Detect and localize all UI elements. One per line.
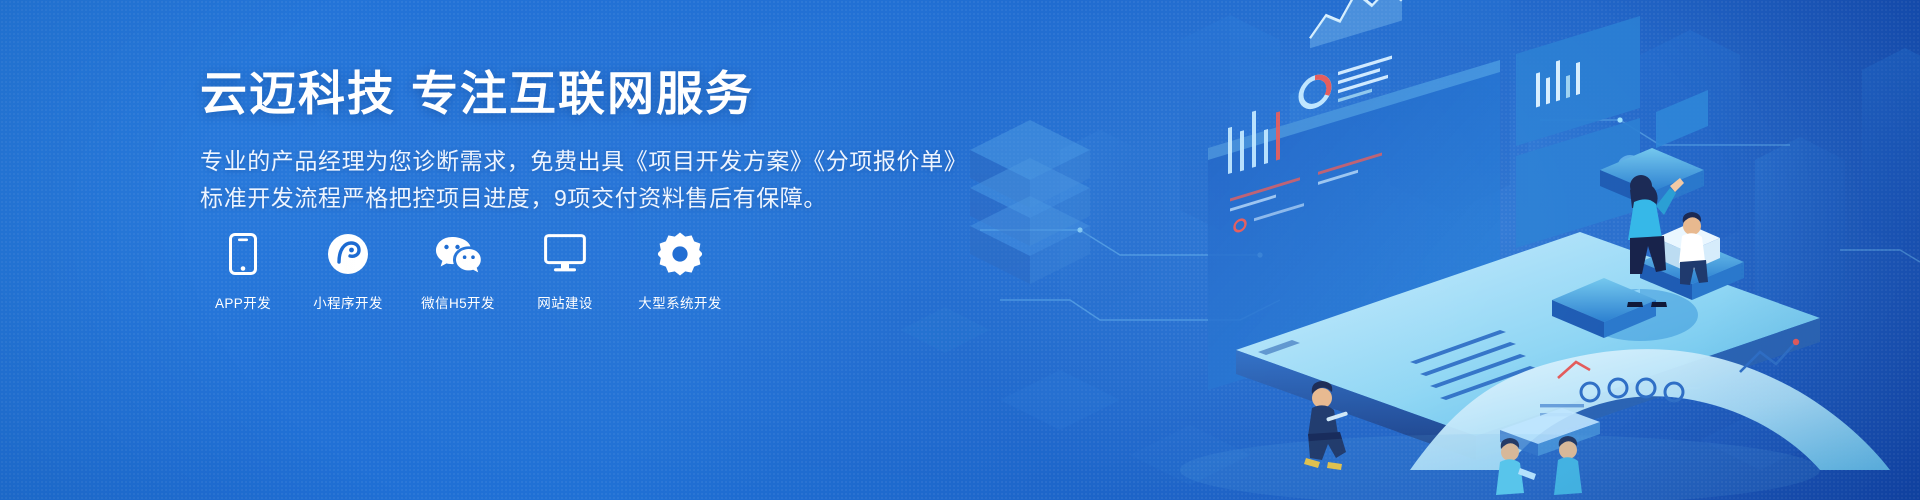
isometric-tech-illustration bbox=[940, 0, 1920, 500]
service-label: 微信H5开发 bbox=[421, 292, 495, 312]
service-item-large-system[interactable]: 大型系统开发 bbox=[624, 232, 736, 312]
service-label: 小程序开发 bbox=[313, 292, 383, 312]
service-label: APP开发 bbox=[215, 292, 271, 312]
service-label: 网站建设 bbox=[537, 292, 593, 312]
subtitle-line-1: 专业的产品经理为您诊断需求，免费出具《项目开发方案》《分项报价单》 bbox=[200, 143, 900, 179]
hero-copy: 云迈科技 专注互联网服务 专业的产品经理为您诊断需求，免费出具《项目开发方案》《… bbox=[200, 66, 900, 216]
wechat-icon bbox=[435, 232, 481, 276]
page-title: 云迈科技 专注互联网服务 bbox=[200, 66, 900, 121]
mobile-phone-icon bbox=[229, 232, 257, 276]
service-item-mini-program[interactable]: 小程序开发 bbox=[302, 232, 394, 312]
service-list: APP开发 小程序开发 bbox=[200, 232, 752, 312]
service-item-website[interactable]: 网站建设 bbox=[522, 232, 608, 312]
server-stack bbox=[970, 120, 1090, 284]
service-label: 大型系统开发 bbox=[638, 292, 721, 312]
service-item-wechat-h5[interactable]: 微信H5开发 bbox=[410, 232, 506, 312]
gear-icon bbox=[658, 232, 702, 276]
service-item-app[interactable]: APP开发 bbox=[200, 232, 286, 312]
floating-mini-panel bbox=[1656, 0, 1708, 148]
hero-banner: 云迈科技 专注互联网服务 专业的产品经理为您诊断需求，免费出具《项目开发方案》《… bbox=[0, 0, 1920, 500]
monitor-icon bbox=[544, 232, 586, 276]
subtitle-line-2: 标准开发流程严格把控项目进度，9项交付资料售后有保障。 bbox=[200, 180, 900, 216]
mini-program-icon bbox=[327, 232, 369, 276]
